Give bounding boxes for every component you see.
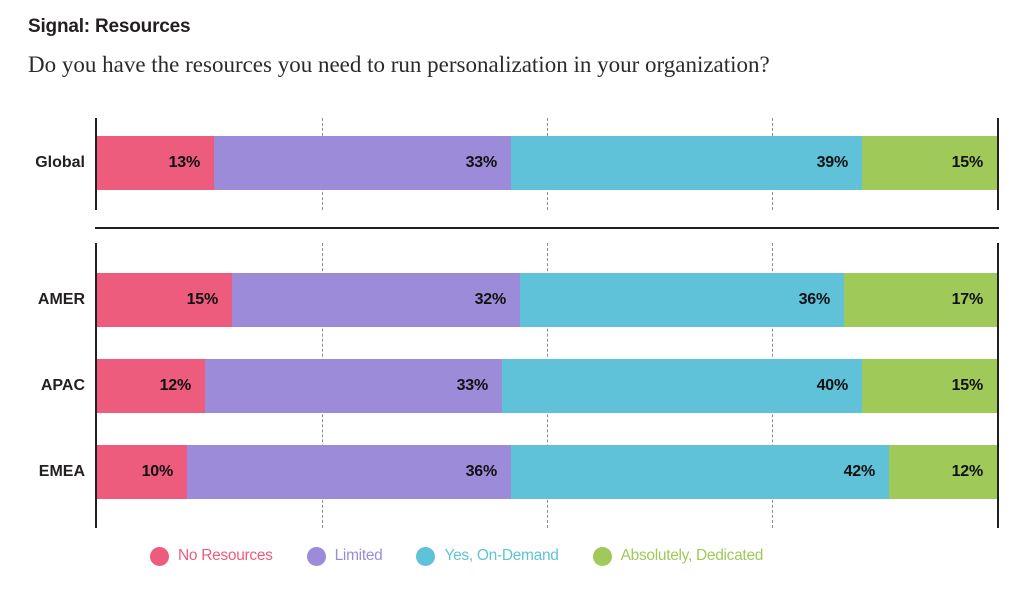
bar-segment-emea-limited[interactable]: 36% bbox=[187, 445, 511, 499]
bar-segment-apac-no-resources[interactable]: 12% bbox=[97, 359, 205, 413]
legend-item-absolutely-dedicated[interactable]: Absolutely, Dedicated bbox=[593, 547, 763, 566]
legend-item-yes-on-demand[interactable]: Yes, On-Demand bbox=[416, 547, 558, 566]
bar-segment-global-yes-on-demand[interactable]: 39% bbox=[511, 136, 862, 190]
bar-segment-emea-absolutely-dedicated[interactable]: 12% bbox=[889, 445, 997, 499]
bar-value-label: 15% bbox=[952, 377, 983, 395]
bar-value-label: 32% bbox=[475, 291, 506, 309]
category-label-global: Global bbox=[35, 136, 85, 190]
legend-label: No Resources bbox=[178, 547, 273, 565]
legend-item-no-resources[interactable]: No Resources bbox=[150, 547, 273, 566]
bar-value-label: 36% bbox=[799, 291, 830, 309]
circle-swatch-icon bbox=[593, 547, 612, 566]
bar-segment-apac-yes-on-demand[interactable]: 40% bbox=[502, 359, 862, 413]
bar-segment-global-limited[interactable]: 33% bbox=[214, 136, 511, 190]
bar-value-label: 42% bbox=[844, 463, 875, 481]
axis-spine-right bbox=[997, 118, 999, 210]
bar-value-label: 10% bbox=[142, 463, 173, 481]
bar-segment-global-absolutely-dedicated[interactable]: 15% bbox=[862, 136, 997, 190]
category-label-amer: AMER bbox=[38, 273, 85, 327]
category-label-apac: APAC bbox=[41, 359, 85, 413]
axis-spine-right bbox=[997, 243, 999, 528]
legend-item-limited[interactable]: Limited bbox=[307, 547, 383, 566]
category-label-emea: EMEA bbox=[39, 445, 85, 499]
bar-segment-emea-no-resources[interactable]: 10% bbox=[97, 445, 187, 499]
legend-label: Absolutely, Dedicated bbox=[621, 547, 763, 565]
circle-swatch-icon bbox=[416, 547, 435, 566]
bar-segment-amer-yes-on-demand[interactable]: 36% bbox=[520, 273, 844, 327]
bar-value-label: 40% bbox=[817, 377, 848, 395]
group-separator bbox=[95, 227, 999, 229]
bar-segment-apac-limited[interactable]: 33% bbox=[205, 359, 502, 413]
bar-segment-emea-yes-on-demand[interactable]: 42% bbox=[511, 445, 889, 499]
bar-value-label: 33% bbox=[466, 154, 497, 172]
bar-value-label: 12% bbox=[160, 377, 191, 395]
bar-value-label: 15% bbox=[187, 291, 218, 309]
bar-value-label: 33% bbox=[457, 377, 488, 395]
bar-segment-global-no-resources[interactable]: 13% bbox=[97, 136, 214, 190]
chart-legend: No ResourcesLimitedYes, On-DemandAbsolut… bbox=[150, 540, 763, 572]
bar-segment-amer-no-resources[interactable]: 15% bbox=[97, 273, 232, 327]
bar-row-apac: APAC12%33%40%15% bbox=[97, 359, 997, 413]
plot-area: Global13%33%39%15%AMER15%32%36%17%APAC12… bbox=[0, 0, 1024, 595]
circle-swatch-icon bbox=[307, 547, 326, 566]
bar-row-global: Global13%33%39%15% bbox=[97, 136, 997, 190]
chart-container: Signal: Resources Do you have the resour… bbox=[0, 0, 1024, 595]
circle-swatch-icon bbox=[150, 547, 169, 566]
bar-value-label: 15% bbox=[952, 154, 983, 172]
bar-value-label: 13% bbox=[169, 154, 200, 172]
bar-value-label: 36% bbox=[466, 463, 497, 481]
bar-segment-apac-absolutely-dedicated[interactable]: 15% bbox=[862, 359, 997, 413]
bar-row-amer: AMER15%32%36%17% bbox=[97, 273, 997, 327]
bar-row-emea: EMEA10%36%42%12% bbox=[97, 445, 997, 499]
bar-value-label: 39% bbox=[817, 154, 848, 172]
legend-label: Yes, On-Demand bbox=[444, 547, 558, 565]
legend-label: Limited bbox=[335, 547, 383, 565]
bar-value-label: 12% bbox=[952, 463, 983, 481]
bar-segment-amer-absolutely-dedicated[interactable]: 17% bbox=[844, 273, 997, 327]
bar-value-label: 17% bbox=[952, 291, 983, 309]
bar-segment-amer-limited[interactable]: 32% bbox=[232, 273, 520, 327]
